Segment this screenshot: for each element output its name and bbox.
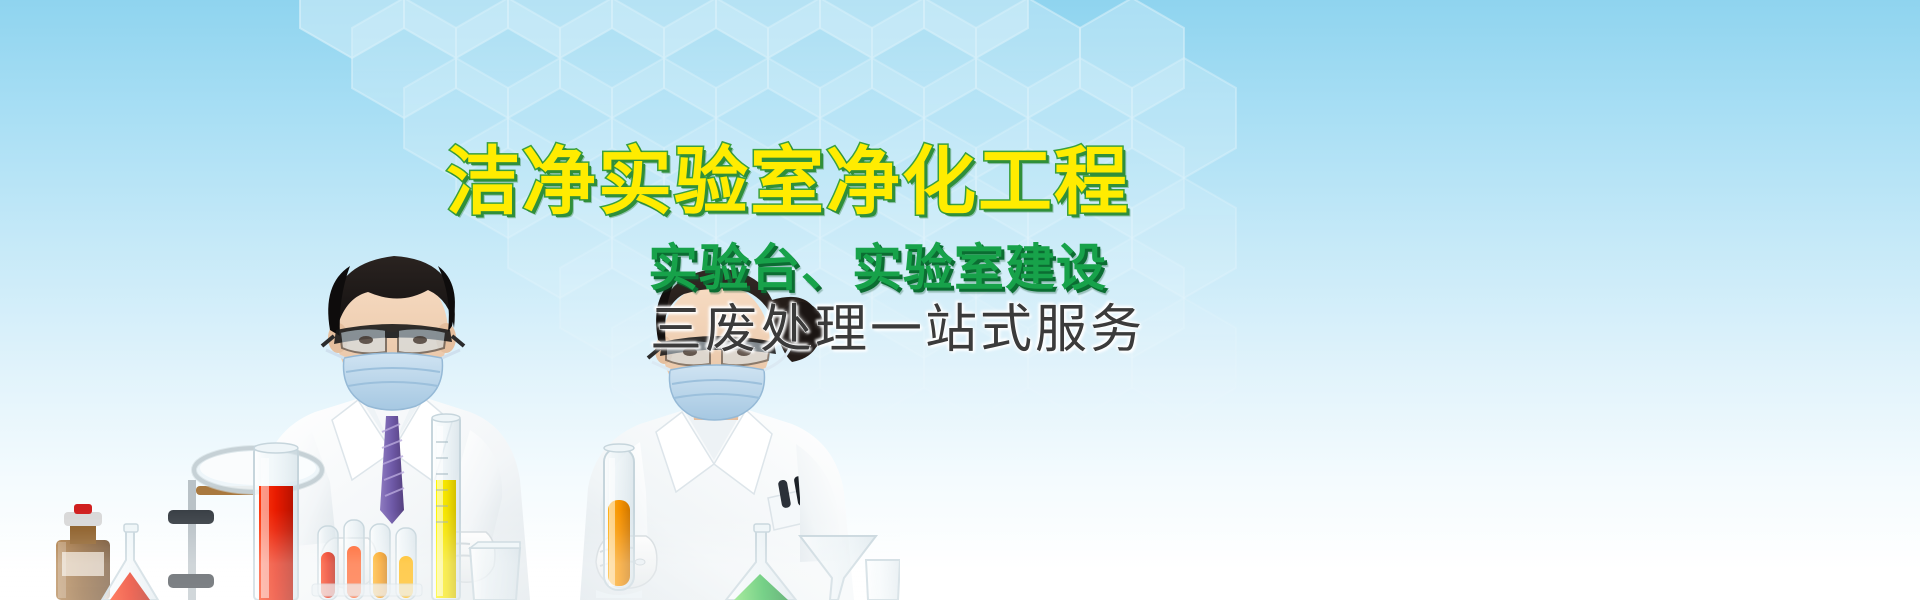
banner-headline: 洁净实验室净化工程	[446, 142, 1130, 222]
banner-text-block: 洁净实验室净化工程 实验台、实验室建设 三废处理一站式服务	[0, 0, 1920, 600]
banner-subline-primary: 实验台、实验室建设	[648, 240, 1107, 296]
marketing-banner: 洁净实验室净化工程 实验台、实验室建设 三废处理一站式服务	[0, 0, 1920, 600]
banner-subline-secondary: 三废处理一站式服务	[650, 300, 1145, 360]
